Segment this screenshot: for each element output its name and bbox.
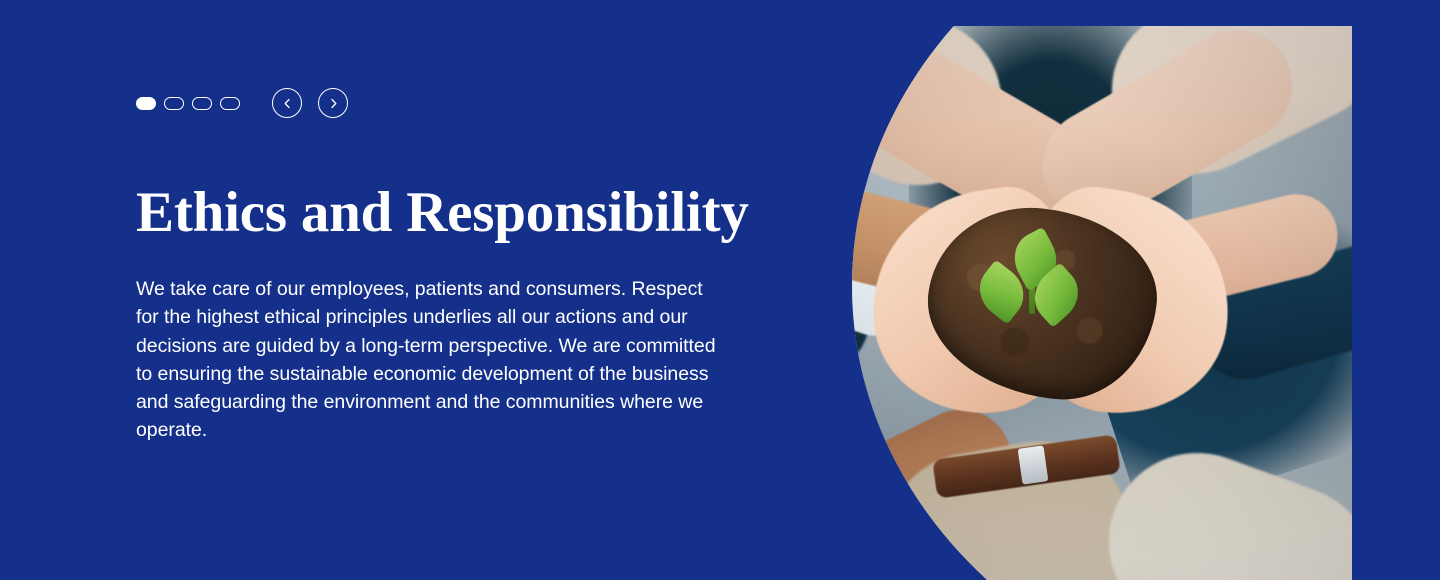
carousel-arrows — [272, 88, 348, 118]
hero-description: We take care of our employees, patients … — [136, 275, 718, 445]
chevron-right-icon — [328, 98, 339, 109]
carousel-dot-2[interactable] — [164, 97, 184, 110]
hero-banner: Ethics and Responsibility We take care o… — [0, 0, 1440, 580]
hero-content: Ethics and Responsibility We take care o… — [136, 0, 736, 580]
watch-buckle — [1018, 445, 1049, 484]
carousel-dots — [136, 97, 240, 110]
gold-bangle-top — [737, 26, 819, 86]
carousel-prev-button[interactable] — [272, 88, 302, 118]
carousel-dot-1[interactable] — [136, 97, 156, 110]
page-title: Ethics and Responsibility — [136, 182, 749, 244]
carousel-dot-3[interactable] — [192, 97, 212, 110]
hero-image-panel — [737, 26, 1352, 580]
gold-bangle-left-outer — [737, 71, 820, 161]
carousel-dot-4[interactable] — [220, 97, 240, 110]
carousel-controls — [136, 88, 348, 118]
carousel-next-button[interactable] — [318, 88, 348, 118]
hero-image-clip — [737, 26, 1352, 580]
chevron-left-icon — [282, 98, 293, 109]
hands-holding-seedling-photo — [737, 26, 1352, 580]
